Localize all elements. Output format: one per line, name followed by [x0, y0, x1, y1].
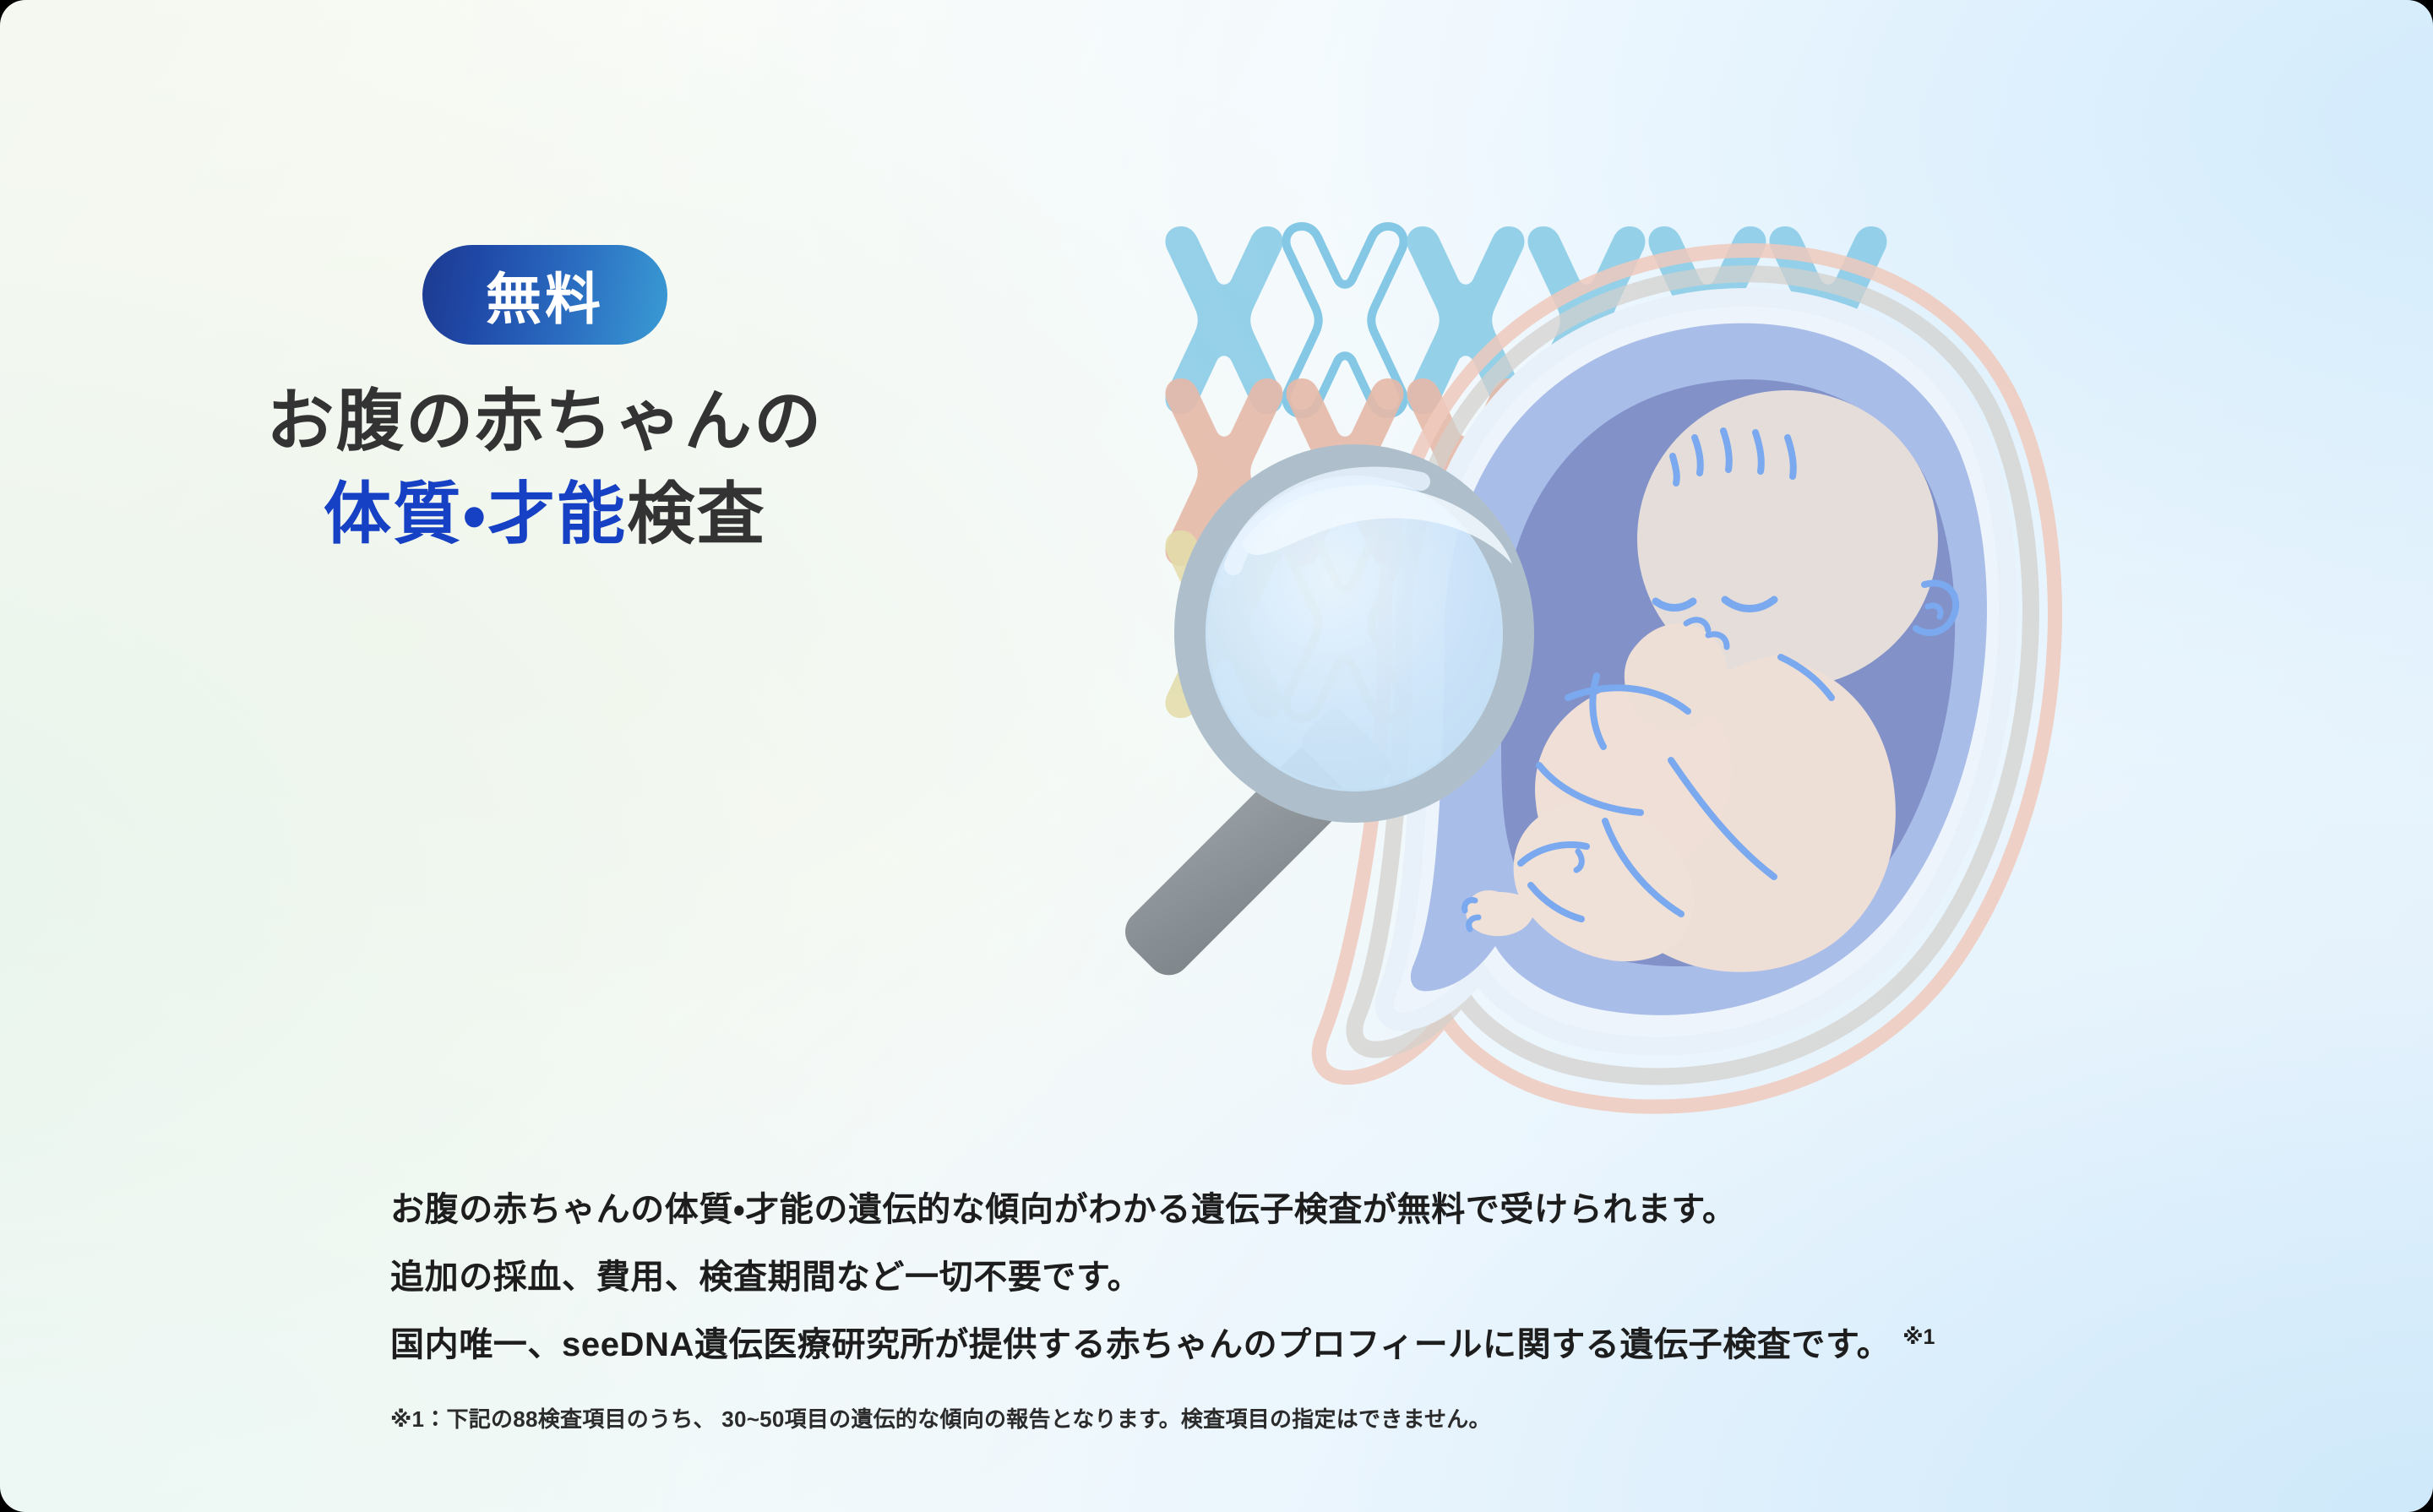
description-line-3: 国内唯一、seeDNA遺伝医療研究所が提供する赤ちゃんのプロフィールに関する遺伝…	[390, 1311, 1935, 1379]
headline-block: 無料 お腹の赤ちゃんの 体質・才能検査	[0, 245, 1090, 562]
free-badge: 無料	[422, 245, 667, 345]
description-line-3-text: 国内唯一、seeDNA遺伝医療研究所が提供する赤ちゃんのプロフィールに関する遺伝…	[390, 1326, 1891, 1363]
title-line-2-rest: 検査	[627, 476, 766, 552]
title-line-2: 体質・才能検査	[266, 468, 823, 561]
title-line-1: お腹の赤ちゃんの	[266, 375, 823, 468]
footnote-text: ※1：下記の88検査項目のうち、 30~50項目の遺伝的な傾向の報告となります。…	[390, 1402, 1491, 1433]
page-title: お腹の赤ちゃんの 体質・才能検査	[266, 375, 823, 562]
description-line-1: お腹の赤ちゃんの体質・才能の遺伝的な傾向がわかる遺伝子検査が無料で受けられます。	[390, 1176, 1935, 1243]
description-text: お腹の赤ちゃんの体質・才能の遺伝的な傾向がわかる遺伝子検査が無料で受けられます。…	[390, 1176, 1935, 1379]
promo-card: 無料 お腹の赤ちゃんの 体質・才能検査 お腹の赤ちゃんの体質・才能の遺伝的な傾向…	[0, 0, 2433, 1512]
title-line-2-accent: 体質・才能	[324, 476, 627, 552]
description-line-2: 追加の採血、費用、検査期間など一切不要です。	[390, 1243, 1935, 1311]
genetic-test-illustration	[955, 203, 2137, 1149]
footnote-reference-mark: ※1	[1902, 1325, 1935, 1349]
